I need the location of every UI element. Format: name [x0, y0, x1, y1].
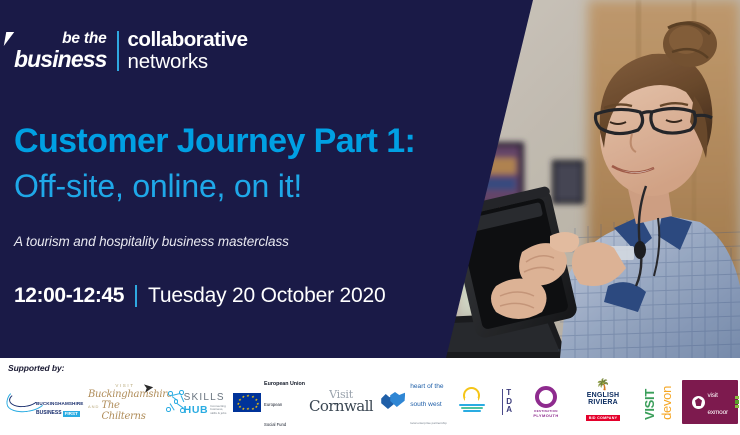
vbuck-line-2: The Chilterns [101, 400, 162, 422]
exmoor-text: visit exmoor [708, 385, 728, 419]
eu-line-3: Social Fund [264, 422, 286, 427]
bbf-line-1: BUCKINGHAMSHIRE [36, 401, 83, 406]
erbid-name: ENGLISH RIVIERA [572, 392, 634, 406]
vbuck-line-2-row: AND The Chilterns [88, 400, 162, 422]
partner-logo-heart-of-the-south-west[interactable]: heart of the south west local enterprise… [376, 380, 452, 424]
partner-logo-buckinghamshire-business-first[interactable]: BUCKINGHAMSHIRE BUSINESS FIRST [6, 380, 84, 424]
visit-devon-visit: VISIT [642, 389, 657, 420]
product-line-2: networks [128, 51, 248, 73]
skills-word: SKILLS [184, 392, 225, 403]
bbf-business: BUSINESS [36, 411, 62, 417]
visit-cornwall-line-2: Cornwall [309, 399, 373, 414]
be-the-business-logo[interactable]: be the business collaborative networks [14, 26, 247, 76]
erbid-sub: BID COMPANY [586, 415, 621, 421]
event-banner: be the business collaborative networks C… [0, 0, 740, 435]
tda-letters: T D A [506, 389, 512, 415]
eu-line-2: European [264, 402, 282, 407]
partner-logo-skills-hub[interactable]: SKILLS HUB Connecting business, skills &… [166, 380, 228, 424]
tda-a: A [506, 406, 512, 415]
brand-line-1: be the [62, 31, 106, 47]
product-line-1: collaborative [128, 29, 248, 51]
tda-rule [502, 389, 504, 415]
event-date: Tuesday 20 October 2020 [148, 284, 385, 308]
partner-logo-visit-devon[interactable]: VISIT devon [638, 384, 678, 420]
hub-row: HUB Connecting business, skills & jobs [184, 405, 228, 417]
partner-logo-destination-plymouth[interactable]: DESTINATION PLYMOUTH [524, 380, 568, 424]
wave-bar-3 [463, 410, 481, 412]
event-time: 12:00-12:45 [14, 284, 124, 308]
skills-hub-tagline: Connecting business, skills & jobs [210, 405, 228, 417]
event-subtitle: A tourism and hospitality business maste… [14, 234, 289, 249]
eu-flag-icon: ★ ★ ★ ★ ★ ★ ★ ★ ★ ★ ★ ★ [233, 393, 261, 412]
brand-mark: be the business [14, 31, 115, 71]
partner-logo-visit-cornwall[interactable]: Visit Cornwall [310, 380, 372, 424]
logo-divider [117, 31, 119, 71]
hub-word: HUB [184, 405, 209, 416]
eu-text: European Union European Social Fund [264, 371, 305, 433]
ring-icon [535, 386, 557, 408]
hosw-line-2: south west [410, 401, 442, 408]
wave-bar-2 [461, 407, 483, 409]
headline-primary: Customer Journey Part 1: [14, 124, 415, 158]
hosw-line-1: heart of the [410, 383, 443, 390]
partner-logo-european-union-social-fund[interactable]: ★ ★ ★ ★ ★ ★ ★ ★ ★ ★ ★ ★ European Union E… [232, 380, 306, 424]
network-nodes-icon [166, 390, 182, 414]
partner-logo-strip: BUCKINGHAMSHIRE BUSINESS FIRST ➤ VISIT B… [6, 378, 736, 426]
headline-secondary: Off-site, online, on it! [14, 170, 302, 202]
product-mark: collaborative networks [128, 29, 248, 74]
bird-icon: ➤ [142, 379, 155, 396]
bbf-text: BUCKINGHAMSHIRE BUSINESS FIRST [36, 392, 83, 417]
skills-hub-text: SKILLS HUB Connecting business, skills &… [184, 388, 228, 416]
brand-line-2: business [14, 48, 107, 71]
skills-hub-tagline-2: business, skills & jobs [210, 407, 226, 415]
heart-icon [381, 390, 407, 414]
hosw-line-3: local enterprise partnership [410, 421, 447, 425]
exmoor-line-2: exmoor [708, 409, 728, 416]
hosw-text: heart of the south west local enterprise… [410, 375, 447, 429]
bbf-line-2: BUSINESS FIRST [36, 411, 83, 417]
wave-bar-1 [459, 404, 485, 406]
exmoor-line-1: visit [708, 392, 718, 399]
exmoor-badge-icon [692, 396, 705, 409]
supported-by-label: Supported by: [8, 363, 64, 373]
partner-logo-visit-exmoor[interactable]: visit exmoor [682, 380, 738, 424]
palm-tree-icon: 🌴 [572, 380, 634, 391]
partner-logo-tda[interactable]: T D A [494, 380, 520, 424]
partner-logo-sunrise-mark[interactable] [456, 386, 490, 418]
bbf-first: FIRST [63, 411, 80, 417]
eu-line-1: European Union [264, 381, 305, 387]
visit-devon-devon: devon [659, 386, 674, 420]
event-dateline: 12:00-12:45 Tuesday 20 October 2020 [14, 284, 385, 308]
partner-logo-visit-buckinghamshire-chilterns[interactable]: ➤ VISIT Buckinghamshire AND The Chiltern… [88, 380, 162, 424]
dateline-separator [135, 285, 137, 307]
footer-partners: Supported by: BUCKINGHAMSHIRE BUSINESS F… [0, 358, 740, 435]
dply-line-2: PLYMOUTH [533, 413, 558, 418]
somerset-squares-icon [735, 396, 740, 409]
vbuck-and: AND [88, 404, 99, 409]
partner-logo-english-riviera-bid[interactable]: 🌴 ENGLISH RIVIERA BID COMPANY [572, 380, 634, 424]
